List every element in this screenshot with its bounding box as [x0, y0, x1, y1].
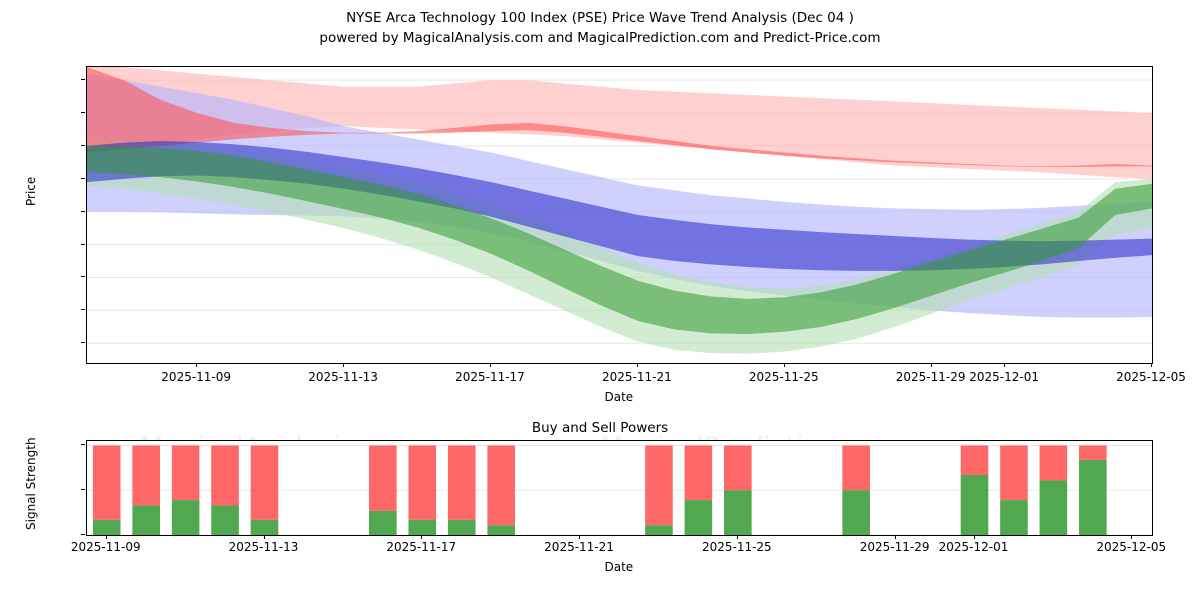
x-tick-mark — [490, 363, 491, 367]
y-tick-mark — [81, 79, 85, 80]
buy-power-bar — [211, 505, 239, 535]
sell-power-bar — [487, 445, 515, 525]
x-tick-label: 2025-11-21 — [591, 370, 683, 384]
sell-power-bar — [211, 445, 239, 505]
y-tick-mark — [81, 444, 85, 445]
chart-title-line-1: NYSE Arca Technology 100 Index (PSE) Pri… — [0, 8, 1200, 28]
sell-power-bar — [1079, 445, 1107, 459]
x-tick-mark — [637, 363, 638, 367]
buy-power-bar — [132, 505, 160, 535]
buy-power-bar — [251, 520, 279, 535]
sell-power-bar — [1040, 445, 1068, 480]
buy-power-bar — [448, 520, 476, 535]
x-tick-mark — [196, 363, 197, 367]
sell-power-bar — [172, 445, 200, 500]
x-tick-label: 2025-11-17 — [375, 540, 467, 554]
x-tick-label: 2025-11-17 — [444, 370, 536, 384]
sell-power-bar — [251, 445, 279, 519]
buy-power-bar — [408, 520, 436, 535]
x-tick-mark — [106, 535, 107, 539]
x-tick-mark — [974, 535, 975, 539]
y-tick-mark — [81, 145, 85, 146]
x-tick-label: 2025-11-09 — [60, 540, 152, 554]
sell-power-bar — [685, 445, 713, 500]
buy-power-bar — [724, 490, 752, 535]
price-wave-chart — [86, 66, 1153, 364]
x-tick-mark — [1151, 363, 1152, 367]
sell-power-bar — [408, 445, 436, 519]
x-tick-mark — [264, 535, 265, 539]
sell-power-bar — [369, 445, 397, 510]
x-tick-mark — [421, 535, 422, 539]
x-tick-label: 2025-11-13 — [297, 370, 389, 384]
y-tick-mark — [81, 534, 85, 535]
buy-sell-powers-svg — [87, 441, 1152, 535]
y-tick-mark — [81, 112, 85, 113]
y-tick-mark — [81, 309, 85, 310]
y-tick-mark — [81, 276, 85, 277]
x-tick-mark — [579, 535, 580, 539]
x-tick-label: 2025-11-21 — [533, 540, 625, 554]
lower-chart-title: Buy and Sell Powers — [0, 420, 1200, 436]
x-tick-mark — [737, 535, 738, 539]
x-tick-label: 2025-11-25 — [691, 540, 783, 554]
sell-power-bar — [645, 445, 673, 525]
x-tick-mark — [931, 363, 932, 367]
sell-power-bar — [724, 445, 752, 490]
buy-power-bar — [1000, 500, 1028, 535]
x-tick-label: 2025-12-05 — [1105, 370, 1197, 384]
buy-power-bar — [842, 490, 870, 535]
x-tick-mark — [1131, 535, 1132, 539]
x-tick-label: 2025-12-01 — [958, 370, 1050, 384]
y-tick-mark — [81, 342, 85, 343]
buy-power-bar — [685, 500, 713, 535]
buy-power-bar — [172, 500, 200, 535]
y-tick-mark — [81, 178, 85, 179]
buy-power-bar — [961, 475, 989, 535]
buy-power-bar — [1079, 460, 1107, 535]
x-tick-mark — [895, 535, 896, 539]
upper-y-axis-label: Price — [24, 177, 38, 206]
price-wave-svg — [87, 67, 1152, 363]
x-tick-label: 2025-12-01 — [928, 540, 1020, 554]
chart-title-line-2: powered by MagicalAnalysis.com and Magic… — [0, 28, 1200, 48]
buy-power-bar — [369, 511, 397, 535]
sell-power-bar — [1000, 445, 1028, 500]
sell-power-bar — [93, 445, 121, 519]
x-tick-label: 2025-11-09 — [150, 370, 242, 384]
x-tick-label: 2025-12-05 — [1085, 540, 1177, 554]
upper-x-axis-label: Date — [605, 390, 634, 404]
y-tick-mark — [81, 211, 85, 212]
lower-y-axis-label: Signal Strength — [24, 437, 38, 530]
sell-power-bar — [448, 445, 476, 519]
y-tick-mark — [81, 244, 85, 245]
x-tick-label: 2025-11-13 — [218, 540, 310, 554]
x-tick-mark — [784, 363, 785, 367]
y-tick-mark — [81, 489, 85, 490]
chart-title-block: NYSE Arca Technology 100 Index (PSE) Pri… — [0, 8, 1200, 48]
x-tick-mark — [343, 363, 344, 367]
buy-sell-powers-chart — [86, 440, 1153, 536]
x-tick-mark — [1004, 363, 1005, 367]
sell-power-bar — [961, 445, 989, 475]
sell-power-bar — [842, 445, 870, 490]
buy-power-bar — [645, 525, 673, 535]
sell-power-bar — [132, 445, 160, 505]
lower-x-axis-label: Date — [605, 560, 634, 574]
buy-power-bar — [487, 525, 515, 535]
x-tick-label: 2025-11-25 — [738, 370, 830, 384]
buy-power-bar — [1040, 480, 1068, 535]
buy-power-bar — [93, 520, 121, 535]
